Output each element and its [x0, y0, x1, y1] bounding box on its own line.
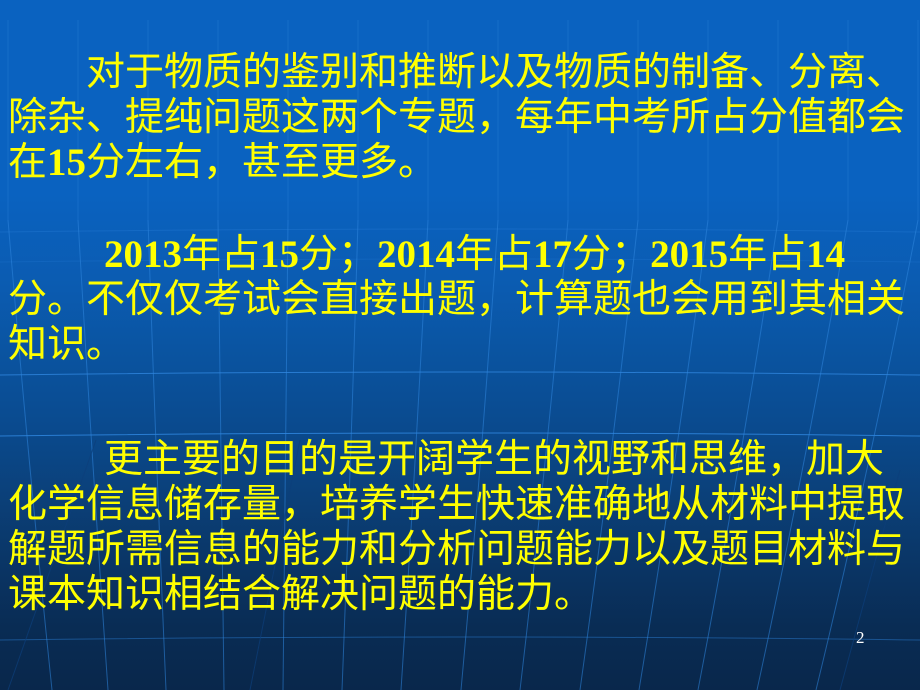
slide-body: 对于物质的鉴别和推断以及物质的制备、分离、除杂、提纯问题这两个专题，每年中考所占… [0, 0, 920, 690]
paragraph-1-text: 对于物质的鉴别和推断以及物质的制备、分离、除杂、提纯问题这两个专题，每年中考所占… [8, 51, 905, 184]
paragraph-1: 对于物质的鉴别和推断以及物质的制备、分离、除杂、提纯问题这两个专题，每年中考所占… [8, 50, 914, 185]
paragraph-2-text: 2013年占15分；2014年占17分；2015年占14分。不仅仅考试会直接出题… [8, 233, 905, 366]
paragraph-3: 更主要的目的是开阔学生的视野和思维，加大化学信息储存量，培养学生快速准确地从材料… [8, 437, 914, 617]
paragraph-2: 2013年占15分；2014年占17分；2015年占14分。不仅仅考试会直接出题… [8, 232, 914, 367]
paragraph-3-text: 更主要的目的是开阔学生的视野和思维，加大化学信息储存量，培养学生快速准确地从材料… [8, 438, 905, 616]
slide-number: 2 [856, 628, 865, 648]
presentation-slide: 对于物质的鉴别和推断以及物质的制备、分离、除杂、提纯问题这两个专题，每年中考所占… [0, 0, 920, 690]
